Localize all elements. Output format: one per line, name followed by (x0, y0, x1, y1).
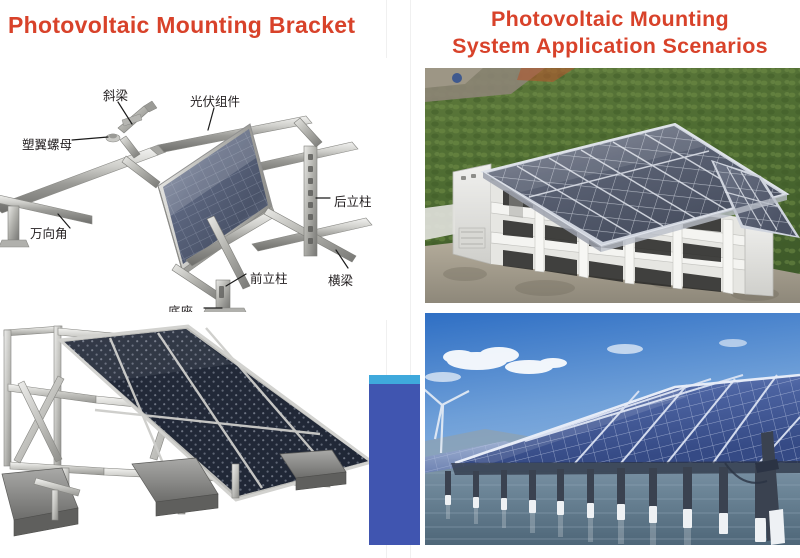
diagram-label-cross-beam: 横梁 (328, 270, 353, 289)
blue-accent-block (369, 375, 420, 545)
poster-canvas: Photovoltaic Mounting Bracket Photovolta… (0, 0, 800, 558)
photo-water-surface-installation (425, 313, 800, 545)
diagram-label-pv-module: 光伏组件 (190, 91, 240, 110)
diagram-label-diagonal-beam: 斜梁 (103, 85, 128, 104)
left-panel-title: Photovoltaic Mounting Bracket (8, 10, 380, 40)
ground-mount-array-render (0, 312, 372, 545)
right-panel-title-line2: System Application Scenarios (420, 33, 800, 60)
right-panel-title-line1: Photovoltaic Mounting (420, 6, 800, 33)
cyan-accent-cap (369, 375, 420, 384)
right-panel-title: Photovoltaic Mounting System Application… (420, 6, 800, 60)
rooftop-pv-photo-illustration (425, 68, 800, 303)
water-pv-photo-illustration (425, 313, 800, 545)
diagram-label-front-column: 前立柱 (250, 268, 288, 287)
photo-rooftop-installation (425, 68, 800, 303)
mounting-bracket-diagram: 斜梁 光伏组件 塑翼螺母 后立柱 万向角 前立柱 横梁 底座 (0, 58, 392, 320)
diagram-label-universal-angle: 万向角 (30, 223, 68, 242)
diagram-label-rear-column: 后立柱 (334, 191, 372, 210)
ground-mount-illustration (0, 312, 372, 545)
diagram-label-plastic-wingnut: 塑翼螺母 (22, 134, 72, 153)
